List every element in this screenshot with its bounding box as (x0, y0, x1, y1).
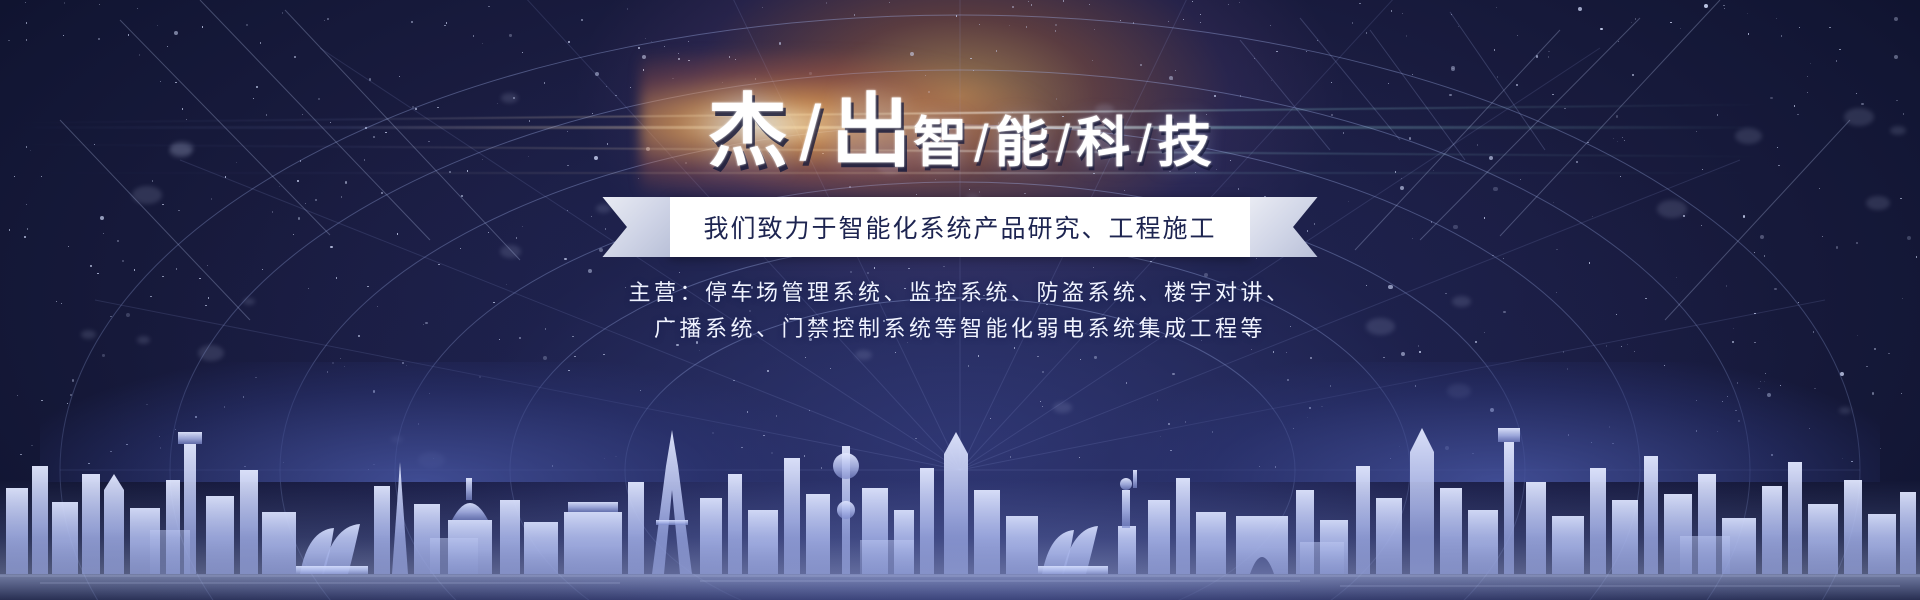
title-separator: / (968, 118, 994, 170)
ribbon-tail-right (1250, 197, 1318, 257)
ribbon-body: 我们致力于智能化系统产品研究、工程施工 (669, 197, 1250, 257)
title-char-5: 科 (1076, 116, 1131, 170)
title-separator: / (789, 94, 831, 172)
page-title: 杰 / 出 智 / 能 / 科 / 技 (0, 92, 1920, 172)
description-line-1: 主营：停车场管理系统、监控系统、防盗系统、楼宇对讲、 (0, 276, 1920, 312)
title-separator: / (1050, 118, 1076, 170)
title-char-2: 出 (831, 92, 913, 172)
ribbon-slogan-text: 我们致力于智能化系统产品研究、工程施工 (703, 209, 1216, 245)
title-char-1: 杰 (707, 92, 789, 172)
ribbon-banner: 我们致力于智能化系统产品研究、工程施工 (0, 196, 1920, 258)
hero-banner: 杰 / 出 智 / 能 / 科 / 技 JIE CHU INTELLIGENT … (0, 0, 1920, 600)
title-char-6: 技 (1158, 116, 1213, 170)
title-char-3: 智 (913, 116, 968, 170)
title-separator: / (1131, 118, 1157, 170)
description-line-2: 广播系统、门禁控制系统等智能化弱电系统集成工程等 (0, 312, 1920, 348)
ribbon-tail-left (602, 197, 670, 257)
title-char-4: 能 (995, 116, 1050, 170)
banner-content: 杰 / 出 智 / 能 / 科 / 技 JIE CHU INTELLIGENT … (0, 0, 1920, 600)
description-block: 主营：停车场管理系统、监控系统、防盗系统、楼宇对讲、 广播系统、门禁控制系统等智… (0, 276, 1920, 348)
